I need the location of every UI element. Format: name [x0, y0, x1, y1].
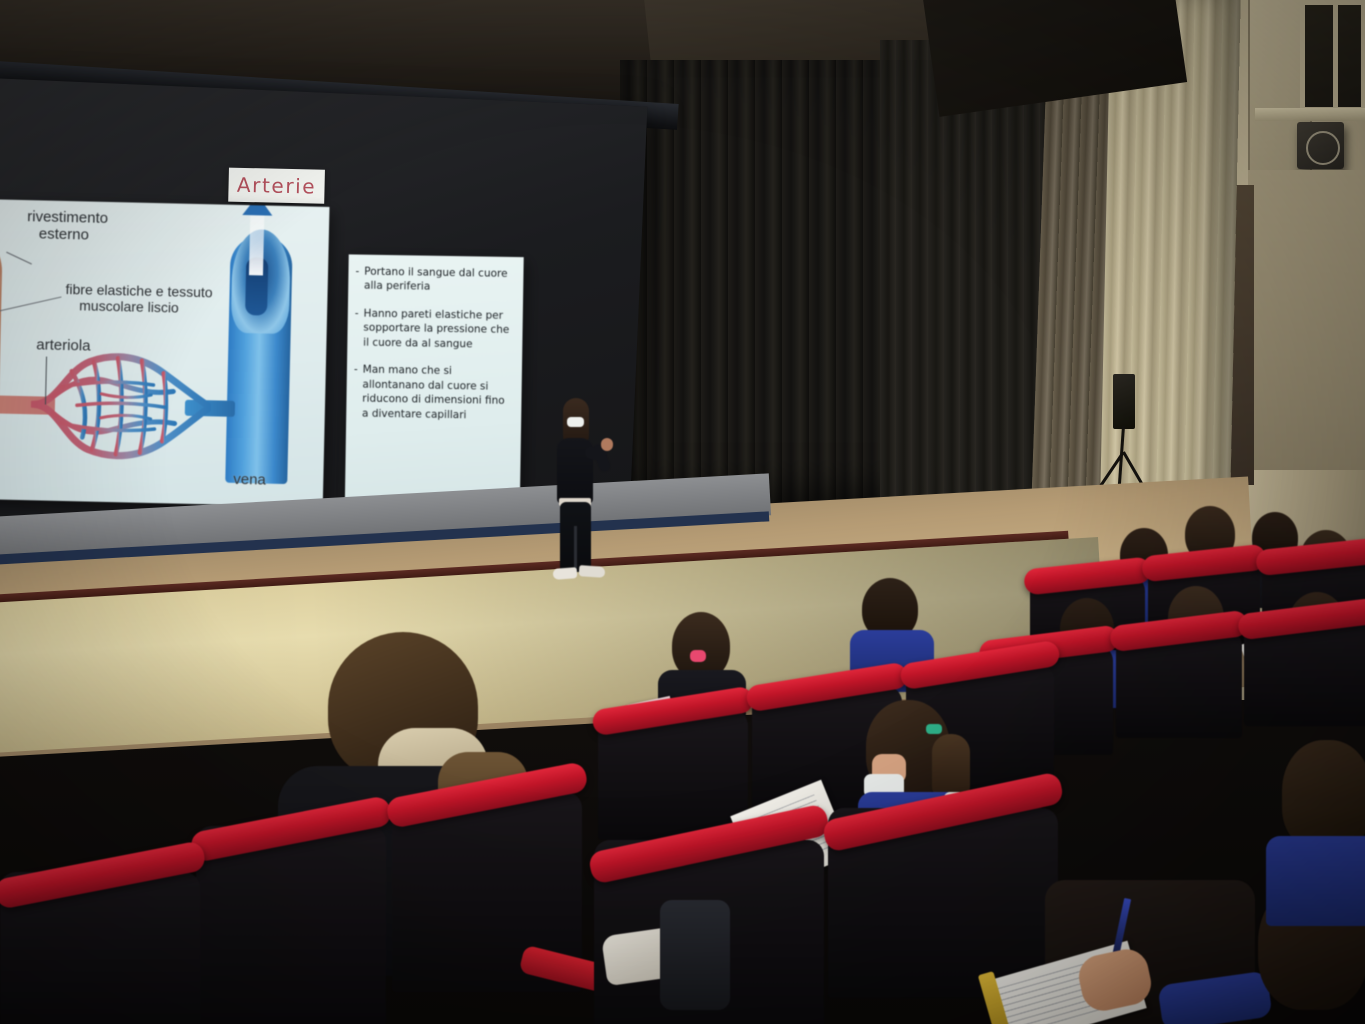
label-vena: vena: [233, 471, 266, 489]
presenter: [545, 398, 615, 588]
bullet-text: Hanno pareti elastiche per sopportare la…: [363, 307, 515, 353]
wall-window: [1300, 0, 1365, 112]
hair-tie-icon: [690, 650, 706, 662]
seat[interactable]: [598, 710, 748, 840]
tripod-speaker-icon: [1113, 374, 1135, 429]
student-leg: [660, 900, 730, 1010]
bullet-dash: -: [355, 265, 359, 294]
label-rivestimento: rivestimento esterno: [27, 208, 109, 244]
artery-cylinder-icon: [0, 228, 3, 480]
hair-tie-icon: [926, 724, 942, 734]
wall-ledge: [1255, 108, 1365, 121]
bullet-text: Portano il sangue dal cuore alla perifer…: [364, 265, 516, 296]
seat[interactable]: [196, 826, 386, 1024]
presenter-leg-split: [574, 526, 577, 572]
seat[interactable]: [1244, 618, 1365, 726]
student-uniform: [1266, 836, 1365, 926]
label-fibre: fibre elastiche e tessuto muscolare lisc…: [65, 281, 213, 317]
slide-title-box: Arterie: [228, 168, 325, 204]
slide-bullet: - Man mano che si allontanano dal cuore …: [353, 363, 514, 423]
seat[interactable]: [0, 872, 200, 1024]
leader-line-fibre: [0, 296, 61, 312]
label-arteriola: arteriola: [36, 336, 91, 354]
auditorium-photo: Arterie: [0, 0, 1365, 1024]
presenter-shoe-right: [579, 565, 606, 578]
slide-bullet: - Hanno pareti elastiche per sopportare …: [354, 306, 515, 352]
slide-diagram-panel: rivestimento esterno fibre elastiche e t…: [0, 198, 330, 507]
student-head: [1282, 740, 1365, 850]
slide-bullet: - Portano il sangue dal cuore alla perif…: [355, 265, 515, 296]
presenter-hand: [601, 438, 613, 451]
slide-title: Arterie: [237, 173, 317, 199]
leader-line-rivestimento: [6, 252, 32, 265]
bullet-dash: -: [354, 306, 358, 350]
seat[interactable]: [1116, 630, 1242, 738]
bullet-text: Man mano che si allontanano dal cuore si…: [362, 363, 514, 423]
bullet-dash: -: [353, 363, 358, 421]
wall-lower: [1248, 170, 1365, 470]
presenter-shoe-left: [553, 567, 578, 580]
presenter-mask-icon: [567, 417, 584, 427]
wall-speaker-icon: [1297, 122, 1344, 169]
vein-flow-arrow-icon: [249, 213, 264, 275]
